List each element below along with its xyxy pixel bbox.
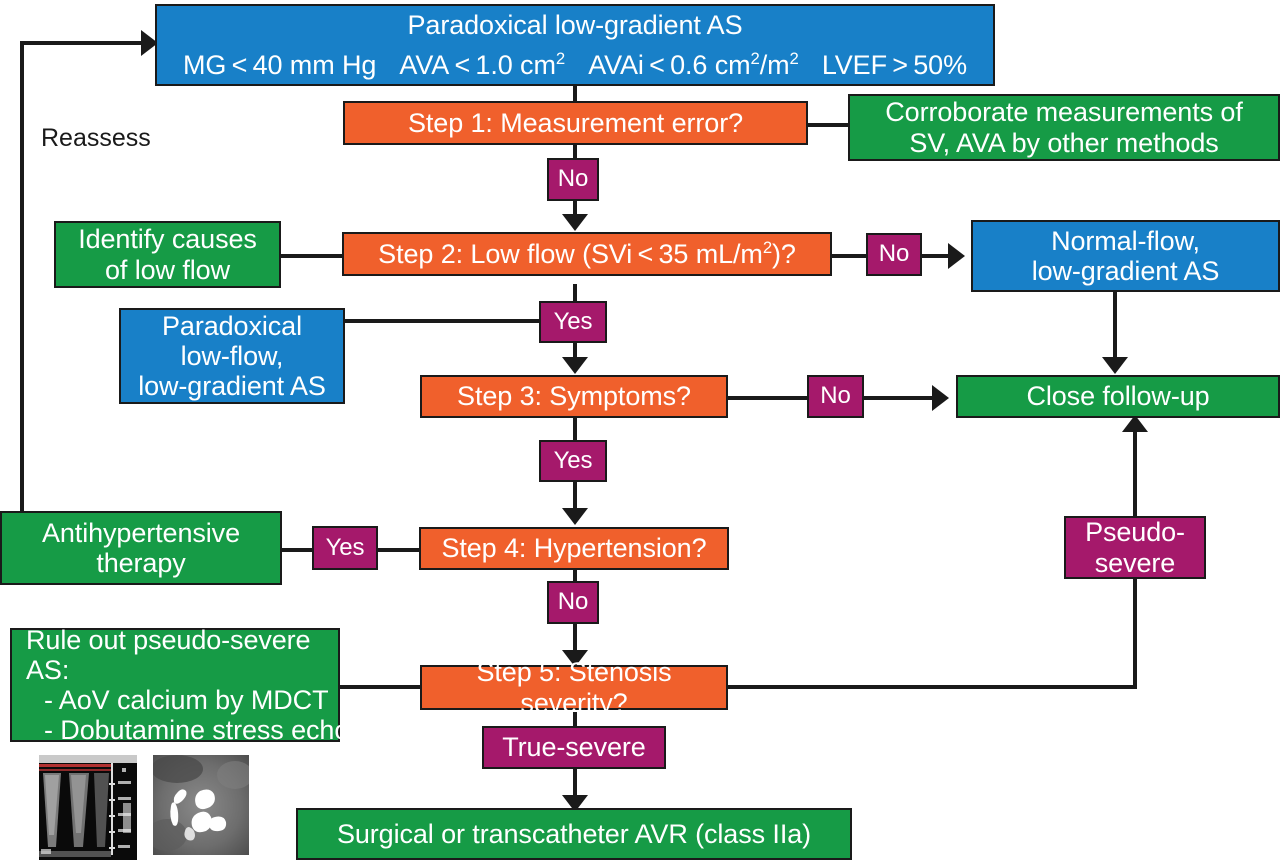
pseudo-line2: severe bbox=[1060, 548, 1210, 578]
step2-label: Step 2: Low flow (SVi < 35 mL/m2)? bbox=[344, 239, 830, 269]
step4-label: Step 4: Hypertension? bbox=[421, 533, 727, 563]
close-followup-box[interactable]: Close follow-up bbox=[956, 375, 1280, 418]
no1-label: No bbox=[549, 166, 597, 193]
decision-chip-no-step1[interactable]: No bbox=[547, 158, 599, 201]
connector-step3-to-no3 bbox=[728, 396, 807, 400]
reassess-loop-top bbox=[20, 41, 143, 45]
criterion-ava: AVA < 1.0 cm2 bbox=[399, 50, 565, 80]
step2-low-flow[interactable]: Step 2: Low flow (SVi < 35 mL/m2)? bbox=[342, 232, 832, 276]
connector-step2-to-yes1 bbox=[573, 284, 577, 302]
reassess-loop-vertical bbox=[20, 41, 24, 515]
doppler-echo-thumbnail bbox=[39, 755, 137, 860]
connector-step1-to-no1 bbox=[573, 144, 577, 159]
arrow-into-close-followup bbox=[1102, 357, 1128, 374]
identify-line2: of low flow bbox=[50, 255, 285, 285]
connector-step3-to-yes2 bbox=[573, 418, 577, 440]
mdct-calcium-image bbox=[153, 755, 249, 855]
step1-label: Step 1: Measurement error? bbox=[345, 108, 806, 138]
normal-flow-line1: Normal-flow, bbox=[967, 226, 1280, 256]
step4-hypertension[interactable]: Step 4: Hypertension? bbox=[419, 527, 729, 570]
ruleout-line2: - AoV calcium by MDCT bbox=[20, 685, 368, 715]
yes1-label: Yes bbox=[541, 309, 605, 336]
antihypertensive-therapy-box[interactable]: Antihypertensive therapy bbox=[0, 511, 282, 585]
paradoxical-line1: Paradoxical bbox=[115, 311, 349, 341]
criterion-avai: AVAi < 0.6 cm2/m2 bbox=[588, 50, 799, 80]
arrow-into-step4 bbox=[562, 508, 588, 525]
antihypertensive-line1: Antihypertensive bbox=[0, 518, 286, 548]
connector-paradoxical-to-yes1 bbox=[345, 319, 539, 323]
decision-chip-pseudo-severe[interactable]: Pseudo- severe bbox=[1064, 516, 1206, 579]
connector-step5-to-right bbox=[728, 685, 1137, 689]
flowchart-canvas: Paradoxical low-gradient AS MG < 40 mm H… bbox=[0, 0, 1280, 867]
arrow-into-step2 bbox=[562, 214, 588, 231]
no4-label: No bbox=[549, 589, 597, 616]
ruleout-line3: - Dobutamine stress echo bbox=[20, 715, 368, 745]
true-severe-label: True-severe bbox=[484, 732, 664, 762]
avr-label: Surgical or transcatheter AVR (class IIa… bbox=[298, 819, 850, 849]
decision-chip-no-step3[interactable]: No bbox=[807, 375, 864, 418]
normal-flow-line2: low-gradient AS bbox=[967, 256, 1280, 286]
normal-flow-low-gradient-box[interactable]: Normal-flow, low-gradient AS bbox=[971, 220, 1280, 292]
connector-normalflow-to-followup bbox=[1113, 292, 1117, 362]
arrow-into-close-followup-right bbox=[932, 385, 949, 411]
header-title: Paradoxical low-gradient AS bbox=[151, 10, 999, 40]
step1-measurement-error[interactable]: Step 1: Measurement error? bbox=[343, 101, 808, 145]
criterion-lvef: LVEF > 50% bbox=[822, 50, 967, 80]
step3-label: Step 3: Symptoms? bbox=[422, 381, 726, 411]
rule-out-pseudo-severe-box[interactable]: Rule out pseudo-severe AS: - AoV calcium… bbox=[10, 628, 340, 742]
criterion-mg: MG < 40 mm Hg bbox=[183, 50, 376, 80]
step5-label: Step 5: Stenosis severity? bbox=[422, 657, 726, 717]
identify-line1: Identify causes bbox=[50, 224, 285, 254]
decision-chip-no-step4[interactable]: No bbox=[547, 581, 599, 624]
paradoxical-line3: low-gradient AS bbox=[115, 371, 349, 401]
connector-yes2-to-step4 bbox=[573, 481, 577, 511]
connector-yes3-to-step4 bbox=[377, 548, 419, 552]
no2-label: No bbox=[868, 241, 920, 268]
paradoxical-line2: low-flow, bbox=[115, 341, 349, 371]
step5-stenosis-severity[interactable]: Step 5: Stenosis severity? bbox=[420, 665, 728, 710]
identify-causes-box[interactable]: Identify causes of low flow bbox=[54, 221, 281, 288]
ruleout-line1: Rule out pseudo-severe AS: bbox=[20, 625, 350, 685]
connector-no3-to-followup bbox=[864, 396, 936, 400]
connector-step2-to-no2 bbox=[832, 254, 866, 258]
avr-outcome-box[interactable]: Surgical or transcatheter AVR (class IIa… bbox=[296, 808, 852, 860]
connector-identify-to-step2 bbox=[280, 254, 342, 258]
step3-symptoms[interactable]: Step 3: Symptoms? bbox=[420, 375, 728, 418]
paradoxical-low-flow-box[interactable]: Paradoxical low-flow, low-gradient AS bbox=[119, 308, 345, 404]
corroborate-line1: Corroborate measurements of bbox=[844, 97, 1280, 127]
doppler-echo-image bbox=[39, 755, 137, 860]
pseudo-line1: Pseudo- bbox=[1060, 517, 1210, 547]
header-criteria: MG < 40 mm Hg AVA < 1.0 cm2 AVAi < 0.6 c… bbox=[157, 50, 993, 80]
connector-no4-to-step5 bbox=[573, 623, 577, 653]
no3-label: No bbox=[809, 383, 862, 410]
reassess-label: Reassess bbox=[41, 124, 151, 153]
decision-chip-yes-step4[interactable]: Yes bbox=[312, 526, 378, 570]
antihypertensive-line2: therapy bbox=[0, 548, 286, 578]
arrow-into-normal-flow bbox=[948, 243, 965, 269]
yes3-label: Yes bbox=[314, 535, 376, 562]
mdct-calcium-thumbnail bbox=[153, 755, 249, 855]
arrow-into-step3 bbox=[562, 357, 588, 374]
close-followup-label: Close follow-up bbox=[958, 381, 1278, 411]
decision-chip-true-severe[interactable]: True-severe bbox=[482, 726, 666, 769]
header-paradoxical-low-gradient-as[interactable]: Paradoxical low-gradient AS MG < 40 mm H… bbox=[155, 4, 995, 86]
corroborate-measurements-box[interactable]: Corroborate measurements of SV, AVA by o… bbox=[848, 94, 1280, 161]
yes2-label: Yes bbox=[541, 448, 605, 475]
decision-chip-yes-step3[interactable]: Yes bbox=[539, 440, 607, 482]
decision-chip-no-step2[interactable]: No bbox=[866, 233, 922, 276]
corroborate-line2: SV, AVA by other methods bbox=[844, 128, 1280, 158]
decision-chip-yes-step2[interactable]: Yes bbox=[539, 301, 607, 343]
